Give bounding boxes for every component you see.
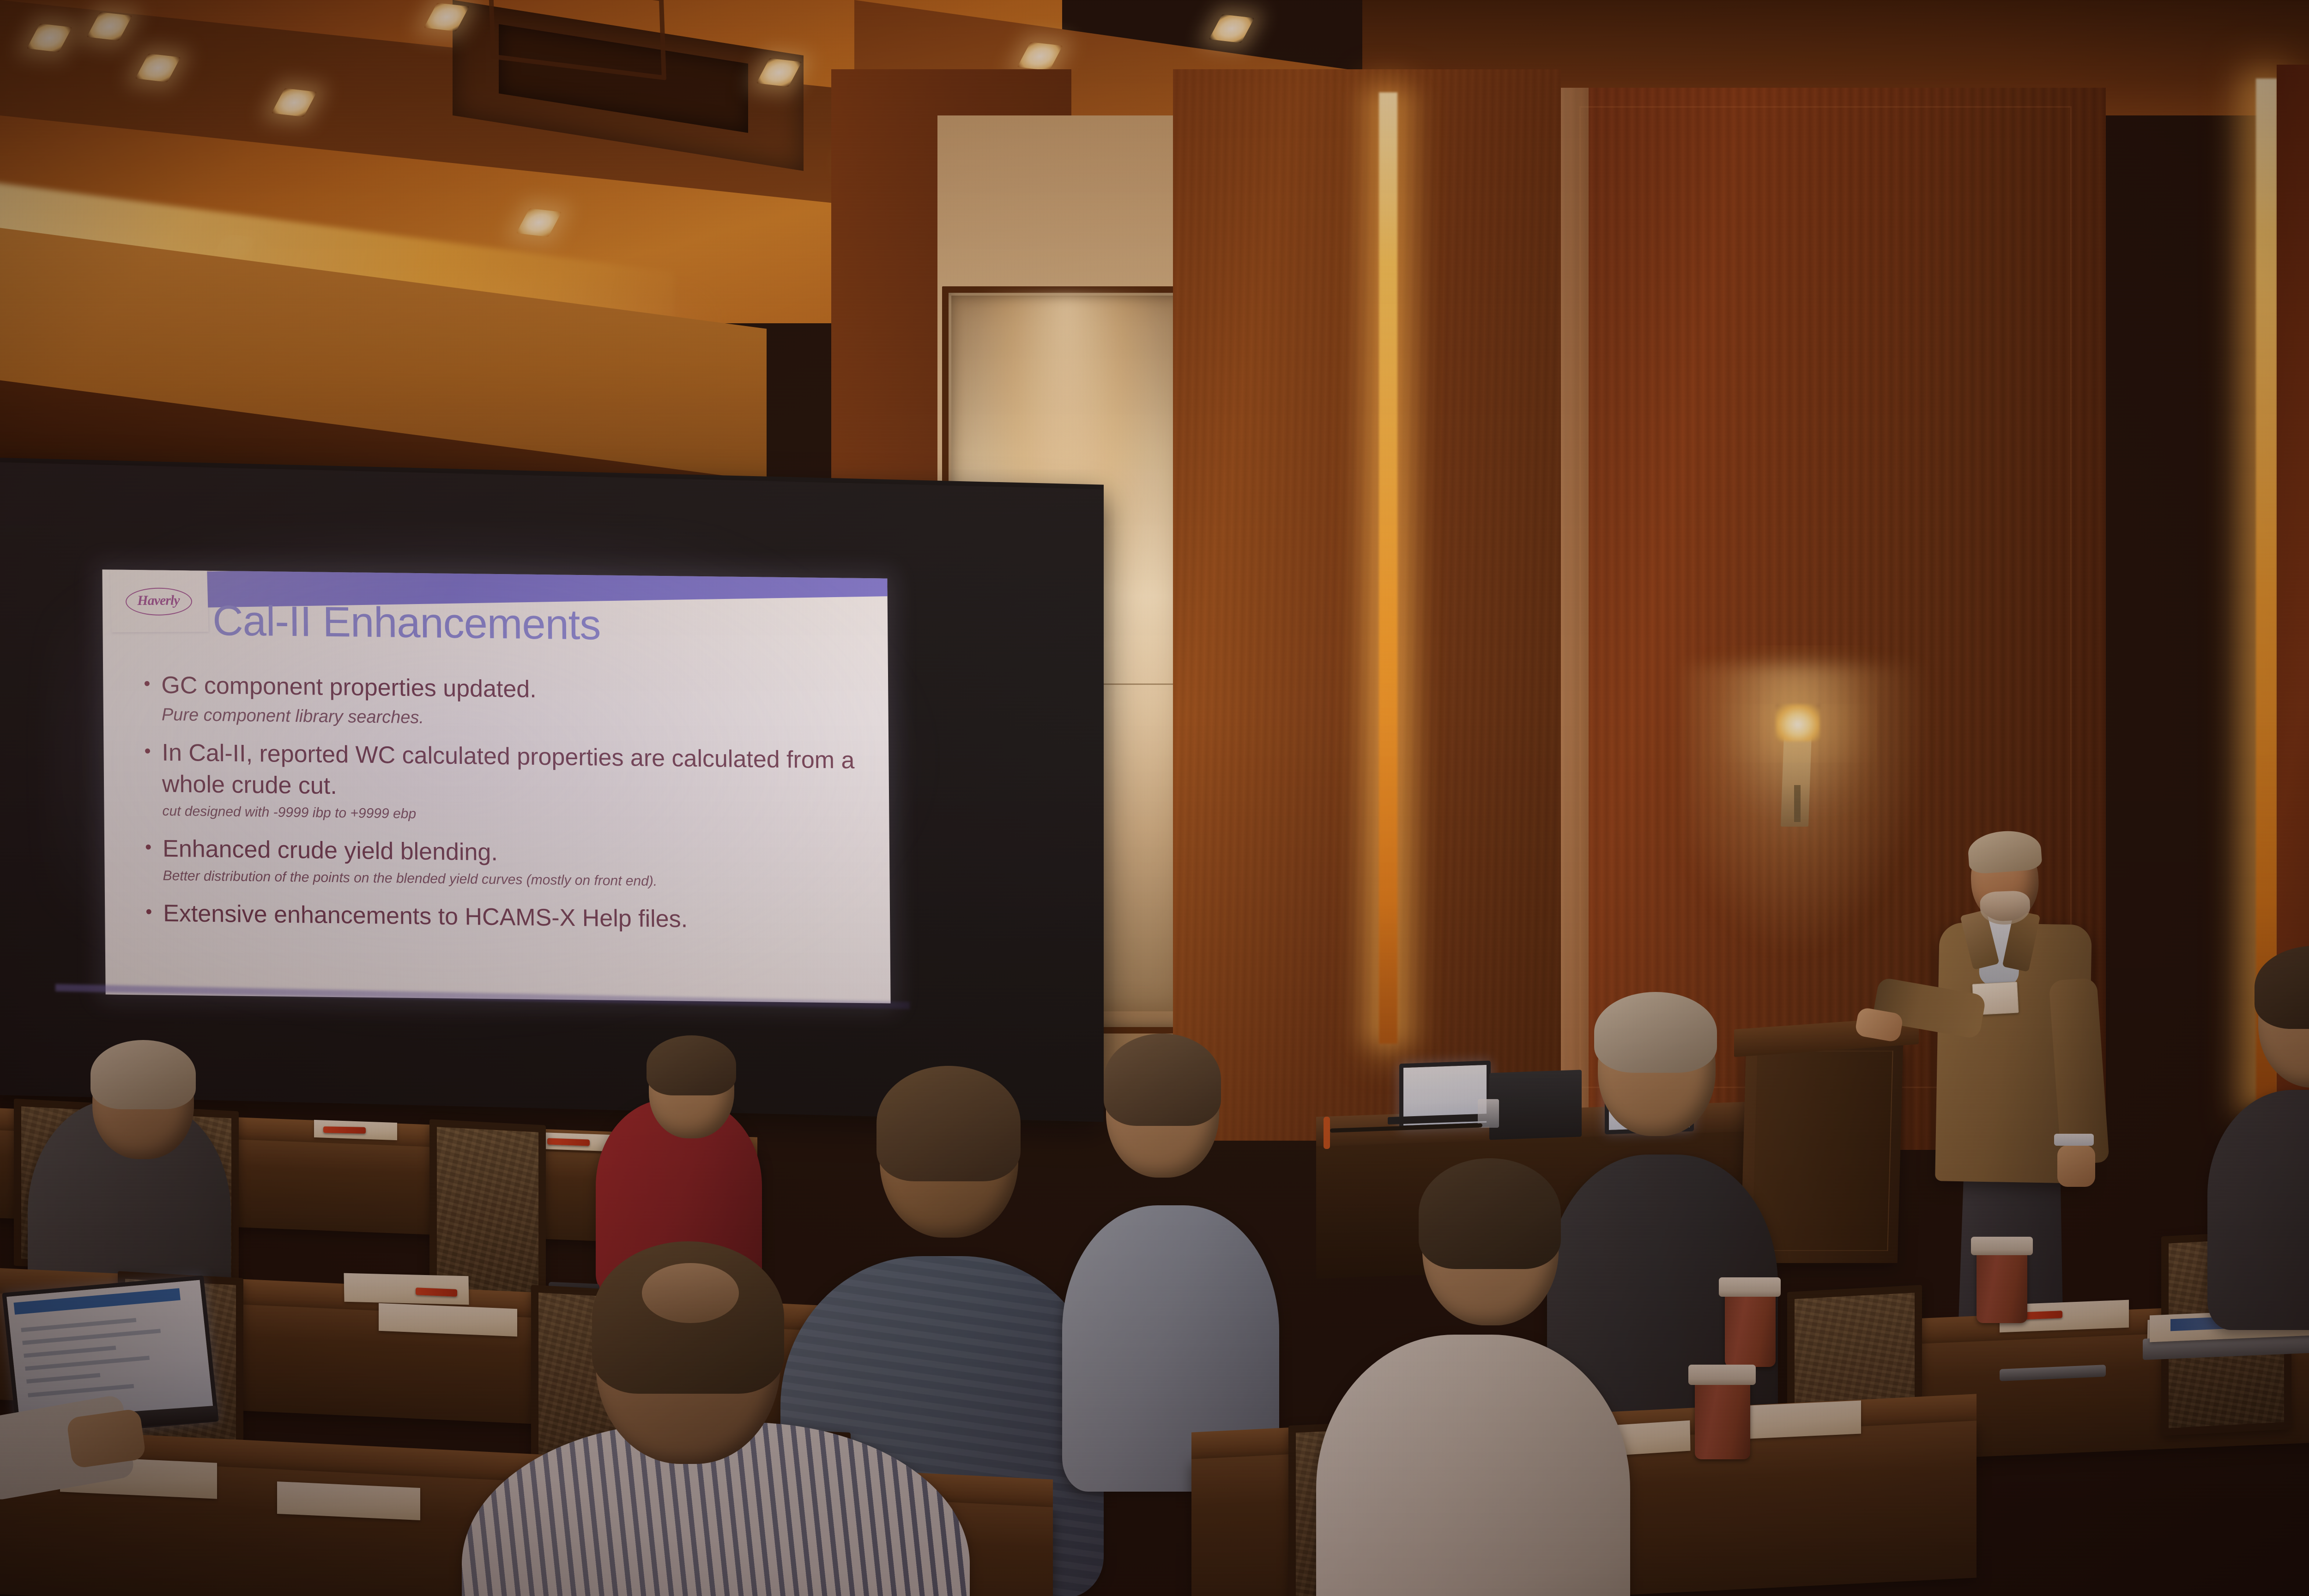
slide-title: Cal-II Enhancements — [212, 597, 601, 650]
slide-bullet: • Enhanced crude yield blending. — [145, 833, 865, 872]
notepad — [379, 1303, 517, 1337]
ceiling-downlight-icon — [1209, 14, 1255, 43]
bullet-dot-icon: • — [144, 737, 162, 799]
presenter-cuff — [2054, 1134, 2094, 1146]
wall-beige-strip — [1561, 88, 1589, 1150]
attendee-bald-spot — [642, 1263, 739, 1323]
slide-bullet: • Extensive enhancements to HCAMS-X Help… — [145, 897, 866, 937]
bullet-dot-icon: • — [145, 897, 163, 929]
attendee-hair — [91, 1040, 196, 1109]
coffee-cup — [1977, 1247, 2027, 1323]
bullet-text: Extensive enhancements to HCAMS-X Help f… — [163, 898, 688, 935]
coffee-cup — [1695, 1376, 1750, 1459]
attendee-hair — [647, 1035, 736, 1095]
bullet-dot-icon: • — [145, 833, 163, 864]
coffee-cup-lid — [1971, 1237, 2033, 1255]
av-monitor — [1489, 1070, 1582, 1140]
bullet-text: In Cal-II, reported WC calculated proper… — [162, 737, 865, 808]
attendee-hair — [1419, 1158, 1561, 1269]
company-logo-text: Haverly — [131, 592, 186, 609]
bullet-text: Enhanced crude yield blending. — [163, 833, 498, 868]
wall-sconce-lamp-icon — [1776, 704, 1820, 741]
presenter-hand-right — [2057, 1145, 2095, 1187]
slide-bullet: • GC component properties updated. — [144, 669, 864, 709]
notepad — [277, 1481, 420, 1520]
coffee-cup-lid — [1688, 1365, 1756, 1385]
attendee-hair — [1594, 992, 1717, 1073]
coffee-cup — [1725, 1288, 1776, 1367]
attendee-torso — [2207, 1090, 2309, 1330]
bullet-dot-icon: • — [144, 669, 162, 701]
slide-bullet: • In Cal-II, reported WC calculated prop… — [144, 737, 865, 808]
wall-light-slot — [1379, 92, 1397, 1044]
podium-face — [1752, 1051, 1893, 1251]
wall-sconce-arm — [1794, 785, 1801, 822]
bullet-text: GC component properties updated. — [161, 670, 537, 705]
presentation-slide: Haverly Cal-II Enhancements • GC compone… — [102, 569, 890, 1003]
slide-body: • GC component properties updated. Pure … — [144, 669, 866, 939]
attendee-hair — [876, 1066, 1021, 1181]
conference-room-photo: Haverly Cal-II Enhancements • GC compone… — [0, 0, 2309, 1596]
attendee-hair — [1104, 1034, 1221, 1126]
slide-logo-box: Haverly — [110, 569, 208, 632]
pen — [323, 1126, 366, 1134]
av-cable-orange — [1324, 1117, 1330, 1149]
wall-light-slot — [2256, 79, 2277, 1108]
attendee-torso — [1316, 1335, 1630, 1596]
attendee-hand — [66, 1408, 146, 1469]
coffee-cup-lid — [1719, 1277, 1781, 1297]
